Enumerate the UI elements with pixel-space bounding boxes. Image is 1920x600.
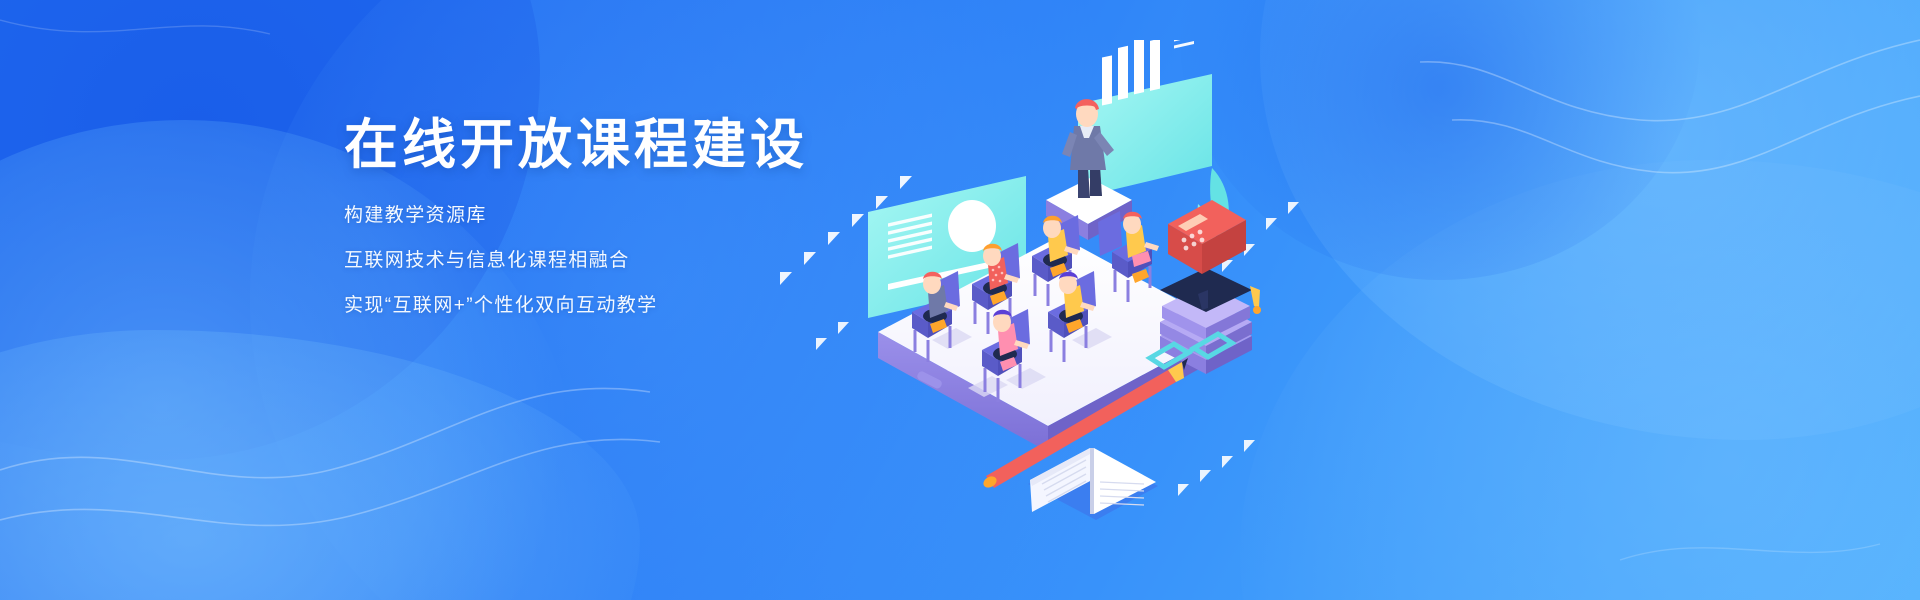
background-blob-right-bottom [1240,160,1920,600]
calculator-icon [1168,200,1246,274]
hero-banner: 在线开放课程建设 构建教学资源库 互联网技术与信息化课程相融合 实现“互联网+”… [0,0,1920,600]
illustration-online-classroom [760,40,1320,560]
background-blob-bottom-left [0,330,640,600]
open-book-icon [1028,448,1158,520]
background-blob-right-top [1260,0,1920,440]
